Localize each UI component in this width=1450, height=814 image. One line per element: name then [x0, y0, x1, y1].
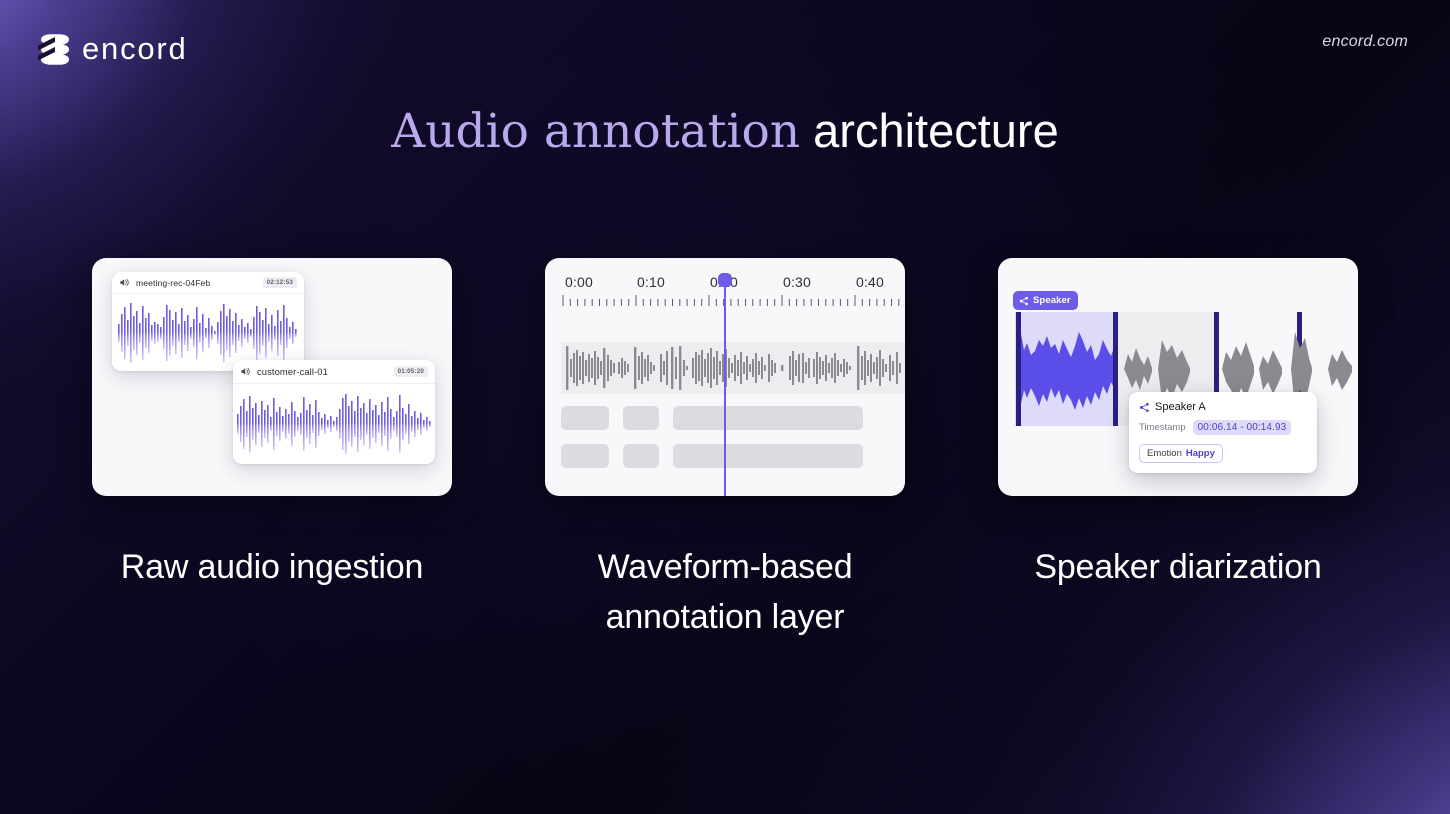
- ruler-tick-label: 0:40: [856, 274, 884, 290]
- timestamp-label: Timestamp: [1139, 422, 1186, 433]
- ruler-labels: 0:00 0:10 0:20 0:30 0:40: [561, 274, 905, 292]
- timeline-ruler[interactable]: 0:00 0:10 0:20 0:30 0:40: [561, 274, 905, 318]
- columns-container: meeting-rec-04Feb 02:12:53: [0, 258, 1450, 642]
- title-highlight: Audio annotation: [391, 104, 800, 159]
- audio-waveform-purple: [233, 384, 435, 464]
- column-speaker-diarization: Speaker: [998, 258, 1358, 642]
- annotation-block[interactable]: [673, 444, 863, 468]
- column-raw-audio-ingestion: meeting-rec-04Feb 02:12:53: [92, 258, 452, 642]
- audio-file-name: customer-call-01: [257, 366, 328, 377]
- audio-file-card-customer[interactable]: customer-call-01 01:05:20: [233, 360, 435, 464]
- ruler-ticks: [561, 294, 905, 308]
- column-waveform-annotation: 0:00 0:10 0:20 0:30 0:40: [545, 258, 905, 642]
- tooltip-timestamp-row: Timestamp 00:06.14 - 00:14.93: [1139, 420, 1307, 435]
- timeline-waveform[interactable]: [561, 342, 905, 394]
- tooltip-title: Speaker A: [1139, 401, 1307, 413]
- playhead-cursor[interactable]: [724, 274, 726, 496]
- slide-header: encord encord.com: [0, 0, 1450, 96]
- playhead-handle[interactable]: [718, 273, 732, 287]
- share-nodes-icon: [1019, 296, 1029, 306]
- speaker-icon: [240, 366, 251, 377]
- speaker-diarization-card: Speaker: [998, 258, 1358, 496]
- ruler-tick-label: 0:00: [565, 274, 593, 290]
- audio-file-header: customer-call-01 01:05:20: [233, 360, 435, 384]
- ruler-tick-label: 0:30: [783, 274, 811, 290]
- speaker-icon: [119, 277, 130, 288]
- column-caption: Speaker diarization: [1034, 542, 1321, 592]
- emotion-value: Happy: [1186, 448, 1215, 459]
- annotation-block[interactable]: [623, 406, 659, 430]
- annotation-block[interactable]: [561, 406, 609, 430]
- encord-stack-logo-icon: [38, 28, 72, 68]
- logo-wordmark: encord: [82, 33, 188, 64]
- badge-label: Speaker: [1033, 295, 1071, 306]
- site-url: encord.com: [1322, 33, 1408, 51]
- audio-file-header: meeting-rec-04Feb 02:12:53: [112, 272, 304, 294]
- caption-line-1: Waveform-based: [598, 548, 853, 586]
- audio-file-duration: 01:05:20: [394, 366, 428, 377]
- timestamp-value[interactable]: 00:06.14 - 00:14.93: [1193, 420, 1292, 435]
- page-title: Audio annotation architecture: [0, 100, 1450, 163]
- waveform-annotation-card: 0:00 0:10 0:20 0:30 0:40: [545, 258, 905, 496]
- ruler-tick-label: 0:10: [637, 274, 665, 290]
- annotation-placeholder-rows: [561, 406, 905, 482]
- annotation-row[interactable]: [561, 444, 905, 468]
- annotation-block[interactable]: [623, 444, 659, 468]
- annotation-block[interactable]: [561, 444, 609, 468]
- tooltip-speaker-name: Speaker A: [1155, 401, 1206, 413]
- slide-root: encord encord.com Audio annotation archi…: [0, 0, 1450, 814]
- caption-line-2: annotation layer: [606, 598, 845, 636]
- audio-file-card-meeting[interactable]: meeting-rec-04Feb 02:12:53: [112, 272, 304, 371]
- audio-file-name: meeting-rec-04Feb: [136, 278, 210, 288]
- title-rest: architecture: [800, 104, 1059, 157]
- share-nodes-icon: [1139, 402, 1150, 413]
- emotion-label: Emotion: [1147, 448, 1182, 459]
- annotation-block[interactable]: [673, 406, 863, 430]
- raw-audio-ingestion-card: meeting-rec-04Feb 02:12:53: [92, 258, 452, 496]
- audio-file-duration: 02:12:53: [263, 277, 297, 288]
- emotion-chip[interactable]: Emotion Happy: [1139, 444, 1223, 463]
- speaker-tooltip: Speaker A Timestamp 00:06.14 - 00:14.93 …: [1129, 392, 1317, 473]
- column-caption: Waveform-basedannotation layer: [598, 542, 853, 642]
- speaker-label-badge[interactable]: Speaker: [1013, 291, 1078, 310]
- column-caption: Raw audio ingestion: [121, 542, 423, 592]
- encord-logo: encord: [38, 28, 188, 68]
- annotation-row[interactable]: [561, 406, 905, 430]
